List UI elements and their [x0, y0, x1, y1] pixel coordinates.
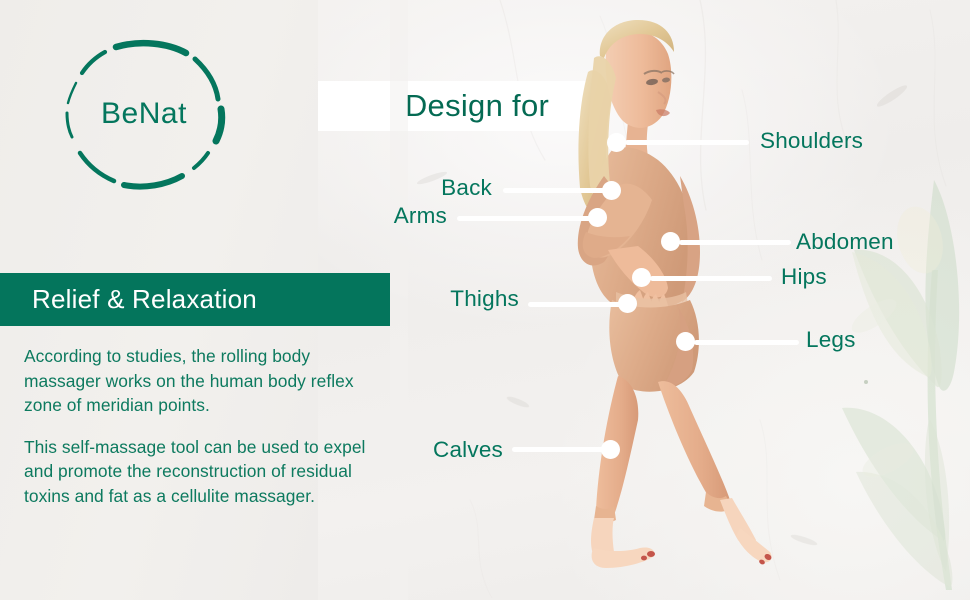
- callout-line-shoulders: [625, 140, 749, 145]
- callout-dot-back[interactable]: [602, 181, 621, 200]
- callout-line-abdomen: [679, 240, 791, 245]
- callout-label-calves: Calves: [433, 439, 503, 462]
- callout-dot-calves[interactable]: [601, 440, 620, 459]
- callout-label-legs: Legs: [806, 329, 856, 352]
- infographic-canvas: BeNat Design for: [0, 0, 970, 600]
- callout-line-hips: [650, 276, 772, 281]
- callout-dot-hips[interactable]: [632, 268, 651, 287]
- callout-dot-arms[interactable]: [588, 208, 607, 227]
- callout-dot-thighs[interactable]: [618, 294, 637, 313]
- callout-dot-legs[interactable]: [676, 332, 695, 351]
- callout-label-arms: Arms: [394, 205, 447, 228]
- callout-group: Shoulders Back Arms Abdomen Hips Thighs …: [0, 0, 970, 600]
- callout-line-legs: [694, 340, 799, 345]
- callout-dot-abdomen[interactable]: [661, 232, 680, 251]
- callout-label-thighs: Thighs: [450, 288, 519, 311]
- callout-label-hips: Hips: [781, 266, 827, 289]
- callout-line-thighs: [528, 302, 627, 307]
- callout-line-arms: [457, 216, 597, 221]
- callout-line-calves: [512, 447, 610, 452]
- callout-label-shoulders: Shoulders: [760, 130, 863, 153]
- callout-label-abdomen: Abdomen: [796, 231, 894, 254]
- callout-label-back: Back: [441, 177, 492, 200]
- callout-line-back: [503, 188, 611, 193]
- callout-dot-shoulders[interactable]: [607, 133, 626, 152]
